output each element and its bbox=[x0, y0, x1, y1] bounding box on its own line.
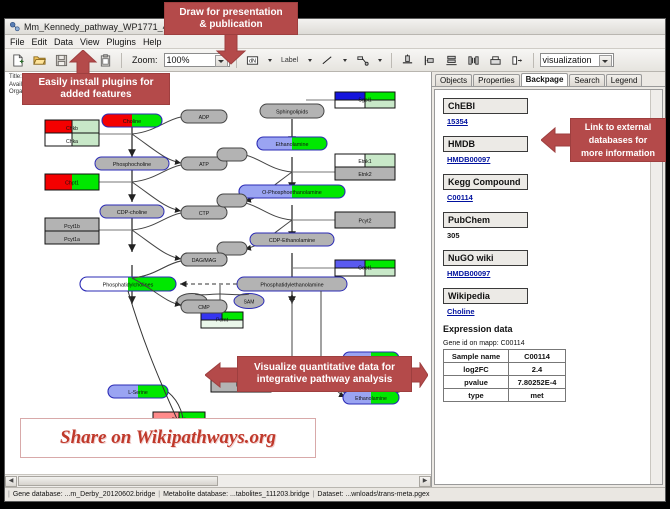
line-dropdown-arrow[interactable] bbox=[340, 51, 350, 70]
callout-plugins-line1: Easily install plugins for bbox=[38, 77, 153, 89]
visualization-value: visualization bbox=[543, 55, 592, 65]
node-cofactor-dag-mag[interactable]: DAG/MAG bbox=[181, 253, 227, 266]
callout-visualize-arrow-right-icon bbox=[410, 362, 428, 388]
callout-plugins-line2: added features bbox=[60, 89, 131, 101]
nugo-wiki-header: NuGO wiki bbox=[443, 250, 528, 266]
expression-data-table: Sample name C00114 log2FC 2.4 pvalue 7.8… bbox=[443, 349, 566, 402]
node-cofactor-cmp[interactable]: CMP bbox=[181, 300, 227, 313]
table-row: log2FC 2.4 bbox=[444, 363, 566, 376]
label-tool-text: Label bbox=[281, 57, 298, 64]
row-value: 7.80252E-4 bbox=[509, 376, 566, 389]
tab-backpage[interactable]: Backpage bbox=[521, 73, 569, 86]
align-left-button[interactable] bbox=[420, 51, 439, 70]
canvas-horizontal-scrollbar[interactable]: ◀ ▶ bbox=[5, 474, 431, 487]
share-banner-text: Share on Wikipathways.org bbox=[60, 427, 276, 449]
visualization-combo[interactable]: visualization bbox=[540, 53, 614, 67]
row-value: 2.4 bbox=[509, 363, 566, 376]
svg-text:DAG/MAG: DAG/MAG bbox=[192, 258, 217, 264]
expression-data-title: Expression data bbox=[443, 324, 654, 334]
table-row: type met bbox=[444, 389, 566, 402]
callout-link-line3: more information bbox=[581, 147, 655, 160]
toolbar-separator-3 bbox=[391, 53, 392, 68]
screenshot-root: Mm_Kennedy_pathway_WP1771_45176.gpml Fil… bbox=[0, 0, 670, 509]
gene-id-line: Gene id on mapp: C00114 bbox=[443, 340, 654, 347]
menu-item-file[interactable]: File bbox=[10, 37, 25, 47]
kegg-compound-header: Kegg Compound bbox=[443, 174, 528, 190]
menu-item-help[interactable]: Help bbox=[143, 37, 162, 47]
pubchem-value: 305 bbox=[447, 231, 654, 240]
callout-link-databases: Link to external databases for more info… bbox=[570, 118, 666, 162]
svg-text:dN: dN bbox=[248, 58, 255, 64]
row-value: met bbox=[509, 389, 566, 402]
status-dataset: Dataset: ...wnloads\trans-meta.pgex bbox=[317, 491, 429, 498]
order-button[interactable] bbox=[508, 51, 527, 70]
table-row: pvalue 7.80252E-4 bbox=[444, 376, 566, 389]
stack-vertical-button[interactable] bbox=[442, 51, 461, 70]
callout-visualize: Visualize quantitative data for integrat… bbox=[237, 356, 412, 392]
menu-item-data[interactable]: Data bbox=[54, 37, 73, 47]
callout-link-arrow-icon bbox=[541, 126, 573, 154]
zoom-value: 100% bbox=[167, 55, 190, 65]
callout-link-line2: databases for bbox=[589, 134, 648, 147]
callout-plugins: Easily install plugins for added feature… bbox=[22, 73, 170, 105]
menu-item-plugins[interactable]: Plugins bbox=[106, 37, 136, 47]
callout-draw-line2: & publication bbox=[199, 19, 262, 31]
svg-text:CMP: CMP bbox=[198, 305, 210, 311]
tool-bar[interactable]: Zoom: 100% dN Label bbox=[5, 49, 665, 72]
callout-draw-arrow-icon bbox=[214, 33, 248, 65]
status-gene-database: Gene database: ...m_Derby_20120602.bridg… bbox=[13, 491, 155, 498]
status-bar: | Gene database: ...m_Derby_20120602.bri… bbox=[5, 487, 665, 501]
tab-properties[interactable]: Properties bbox=[473, 74, 519, 86]
status-divider-1: | bbox=[8, 491, 10, 498]
wikipedia-link[interactable]: Choline bbox=[447, 307, 654, 316]
row-key: type bbox=[444, 389, 509, 402]
label-dropdown-arrow[interactable] bbox=[305, 51, 315, 70]
menu-item-view[interactable]: View bbox=[80, 37, 99, 47]
status-divider-2: | bbox=[158, 491, 160, 498]
tab-search[interactable]: Search bbox=[569, 74, 604, 86]
row-key: pvalue bbox=[444, 376, 509, 389]
side-panel-tabs[interactable]: Objects Properties Backpage Search Legen… bbox=[432, 72, 665, 87]
visualization-combo-arrow[interactable] bbox=[599, 55, 612, 67]
callout-visualize-arrow-icon bbox=[205, 362, 239, 388]
receptor-tool-button[interactable] bbox=[353, 51, 372, 70]
pathvisio-icon bbox=[9, 21, 20, 32]
status-divider-3: | bbox=[313, 491, 315, 498]
row-key: log2FC bbox=[444, 363, 509, 376]
scroll-left-button[interactable]: ◀ bbox=[5, 476, 17, 487]
label-tool-button[interactable]: Label bbox=[278, 51, 302, 70]
wikipedia-header: Wikipedia bbox=[443, 288, 528, 304]
callout-visualize-line1: Visualize quantitative data for bbox=[254, 362, 395, 374]
scroll-right-button[interactable]: ▶ bbox=[419, 476, 431, 487]
group-button[interactable] bbox=[486, 51, 505, 70]
tab-legend[interactable]: Legend bbox=[606, 74, 643, 86]
zoom-label: Zoom: bbox=[132, 55, 158, 65]
row-value: C00114 bbox=[509, 350, 566, 363]
callout-draw-line1: Draw for presentation bbox=[179, 7, 282, 19]
toolbar-separator bbox=[121, 53, 122, 68]
chebi-header: ChEBI bbox=[443, 98, 528, 114]
status-metabolite-database: Metabolite database: ...tabolites_111203… bbox=[163, 491, 309, 498]
scroll-thumb[interactable] bbox=[18, 476, 218, 486]
callout-draw: Draw for presentation & publication bbox=[164, 2, 298, 35]
row-key: Sample name bbox=[444, 350, 509, 363]
line-tool-button[interactable] bbox=[318, 51, 337, 70]
align-top-button[interactable] bbox=[398, 51, 417, 70]
kegg-compound-link[interactable]: C00114 bbox=[447, 193, 654, 202]
toolbar-separator-4 bbox=[533, 53, 534, 68]
callout-visualize-line2: integrative pathway analysis bbox=[257, 374, 393, 386]
menu-bar[interactable]: File Edit Data View Plugins Help bbox=[5, 35, 665, 49]
paste-button[interactable] bbox=[96, 51, 115, 70]
callout-link-line1: Link to external bbox=[585, 121, 652, 134]
open-file-button[interactable] bbox=[30, 51, 49, 70]
receptor-dropdown-arrow[interactable] bbox=[375, 51, 385, 70]
distribute-horizontal-button[interactable] bbox=[464, 51, 483, 70]
table-row: Sample name C00114 bbox=[444, 350, 566, 363]
new-file-button[interactable] bbox=[8, 51, 27, 70]
hmdb-header: HMDB bbox=[443, 136, 528, 152]
title-bar: Mm_Kennedy_pathway_WP1771_45176.gpml bbox=[5, 19, 665, 35]
menu-item-edit[interactable]: Edit bbox=[32, 37, 48, 47]
pubchem-header: PubChem bbox=[443, 212, 528, 228]
share-banner: Share on Wikipathways.org bbox=[20, 418, 316, 458]
nugo-wiki-link[interactable]: HMDB00097 bbox=[447, 269, 654, 278]
datanode-dropdown-arrow[interactable] bbox=[265, 51, 275, 70]
tab-objects[interactable]: Objects bbox=[435, 74, 472, 86]
